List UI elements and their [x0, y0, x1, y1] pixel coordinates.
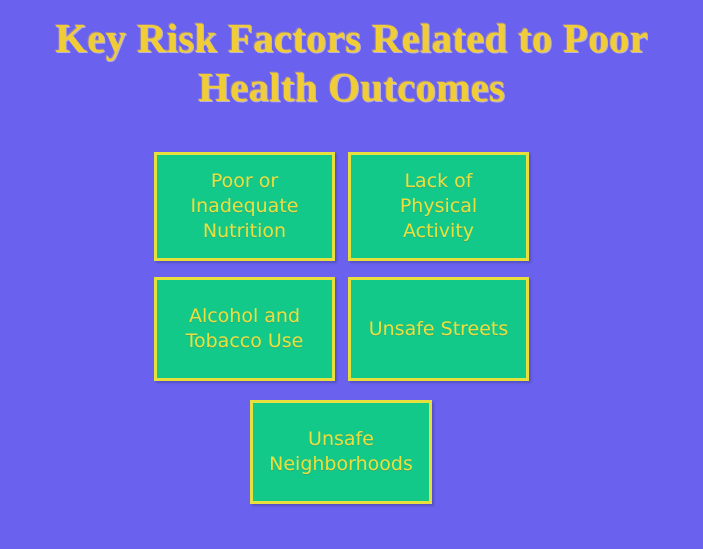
risk-factor-label: Unsafe Neighborhoods	[263, 427, 419, 477]
risk-factor-box-alcohol[interactable]: Alcohol and Tobacco Use	[154, 277, 335, 381]
risk-factor-box-activity[interactable]: Lack of Physical Activity	[348, 152, 529, 261]
risk-factor-label: Poor or Inadequate Nutrition	[185, 169, 305, 244]
risk-factor-box-streets[interactable]: Unsafe Streets	[348, 277, 529, 381]
slide-canvas: Key Risk Factors Related to Poor Health …	[0, 0, 703, 549]
page-title: Key Risk Factors Related to Poor Health …	[0, 14, 703, 112]
risk-factor-label: Unsafe Streets	[363, 317, 515, 342]
risk-factor-box-nutrition[interactable]: Poor or Inadequate Nutrition	[154, 152, 335, 261]
risk-factor-box-neighborhoods[interactable]: Unsafe Neighborhoods	[250, 400, 432, 504]
risk-factor-label: Lack of Physical Activity	[394, 169, 483, 244]
risk-factor-label: Alcohol and Tobacco Use	[180, 304, 310, 354]
